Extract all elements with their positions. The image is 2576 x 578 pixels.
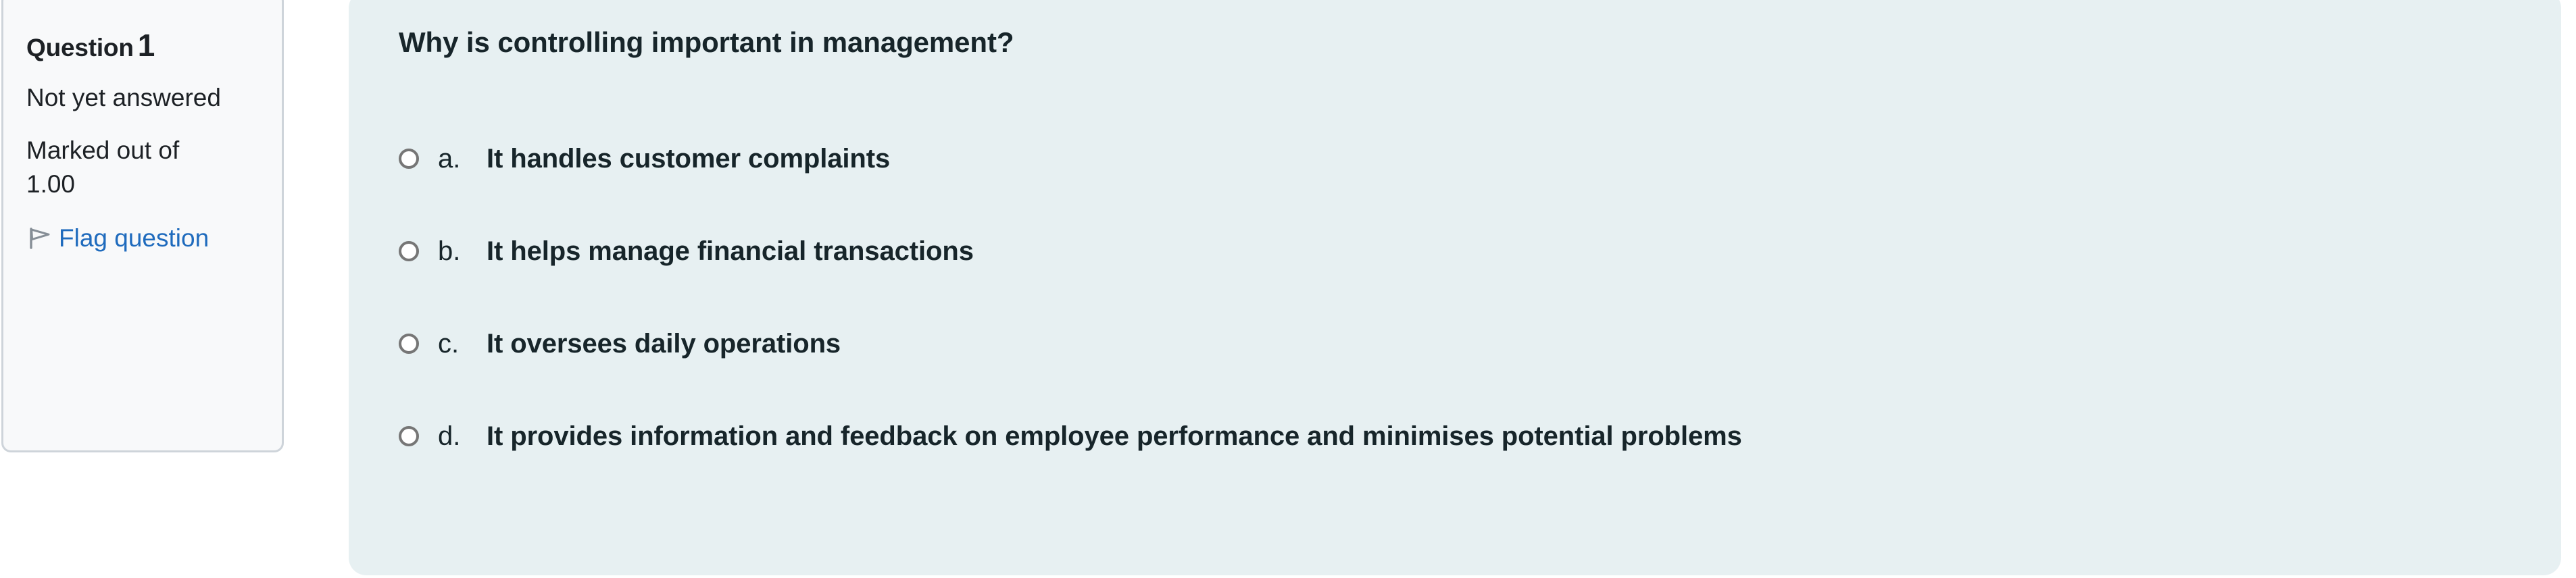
question-grade-text: Marked out of 1.00 [26, 134, 229, 201]
answer-options-list: a. It handles customer complaints b. It … [399, 112, 2534, 482]
flag-question-control[interactable]: Flag question [26, 221, 229, 255]
answer-text-b[interactable]: It helps manage financial transactions [487, 236, 974, 267]
question-state-text: Not yet answered [26, 81, 222, 115]
question-info-panel: Question1 Not yet answered Marked out of… [1, 0, 284, 452]
flag-question-label[interactable]: Flag question [59, 221, 209, 255]
answer-option-d[interactable]: d. It provides information and feedback … [399, 390, 2534, 482]
question-main-panel: Why is controlling important in manageme… [349, 0, 2561, 575]
answer-option-a[interactable]: a. It handles customer complaints [399, 112, 2534, 205]
answer-text-d[interactable]: It provides information and feedback on … [487, 421, 1742, 452]
answer-letter-c: c. [438, 330, 487, 357]
answer-option-c[interactable]: c. It oversees daily operations [399, 297, 2534, 390]
answer-letter-a: a. [438, 145, 487, 172]
answer-text-c[interactable]: It oversees daily operations [487, 328, 841, 359]
radio-button-d[interactable] [399, 426, 419, 446]
answer-letter-b: b. [438, 238, 487, 265]
question-number: 1 [138, 28, 155, 63]
flag-icon [26, 225, 53, 252]
answer-text-a[interactable]: It handles customer complaints [487, 143, 890, 174]
radio-button-c[interactable] [399, 334, 419, 354]
question-stem-text: Why is controlling important in manageme… [399, 26, 1014, 59]
radio-button-b[interactable] [399, 241, 419, 261]
question-number-heading: Question1 [26, 28, 259, 63]
answer-letter-d: d. [438, 423, 487, 450]
question-label: Question [26, 34, 134, 61]
quiz-question-container: Question1 Not yet answered Marked out of… [0, 0, 2576, 578]
answer-option-b[interactable]: b. It helps manage financial transaction… [399, 205, 2534, 297]
radio-button-a[interactable] [399, 149, 419, 169]
